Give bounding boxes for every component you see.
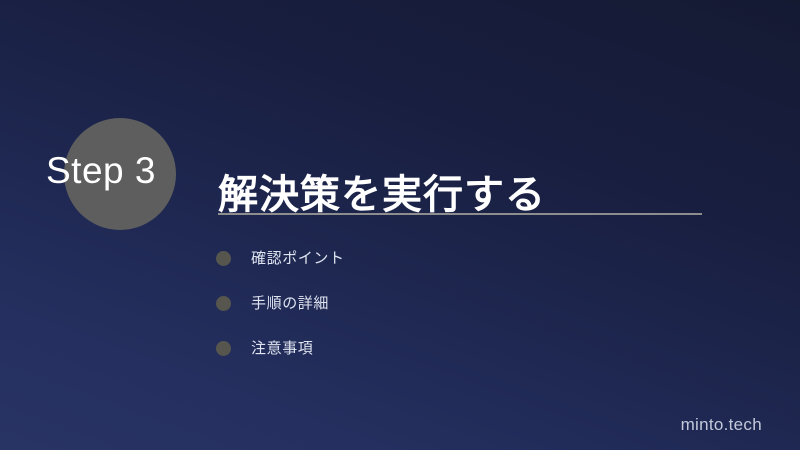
list-item-label: 確認ポイント xyxy=(251,249,345,269)
step-badge-label: Step 3 xyxy=(46,145,156,197)
list-item-label: 手順の詳細 xyxy=(251,294,329,314)
bullet-dot-icon xyxy=(216,341,231,356)
bullet-list: 確認ポイント 手順の詳細 注意事項 xyxy=(216,236,676,371)
title-divider xyxy=(218,213,702,215)
bullet-dot-icon xyxy=(216,296,231,311)
slide-canvas: Step 3 解決策を実行する 確認ポイント 手順の詳細 注意事項 minto.… xyxy=(0,0,800,450)
bullet-dot-icon xyxy=(216,251,231,266)
list-item-label: 注意事項 xyxy=(251,339,313,359)
list-item: 確認ポイント xyxy=(216,236,676,281)
list-item: 注意事項 xyxy=(216,326,676,371)
footer-brand: minto.tech xyxy=(681,414,762,436)
list-item: 手順の詳細 xyxy=(216,281,676,326)
